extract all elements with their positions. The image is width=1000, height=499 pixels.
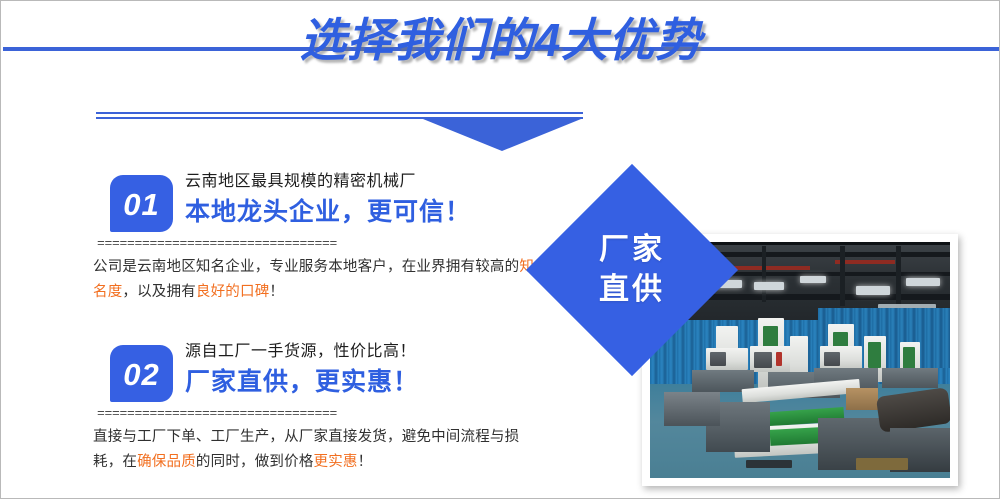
body-text-segment: 公司是云南地区知名企业，专业服务本地客户，在业界拥有较高的 [93, 259, 519, 275]
feature-body-01: 公司是云南地区知名企业，专业服务本地客户，在业界拥有较高的知名度，以及拥有良好的… [93, 255, 545, 305]
photo-skylight [906, 278, 940, 286]
photo-machine-panel [754, 352, 772, 368]
section-divider [96, 112, 583, 146]
diamond-line-1: 厂家 [599, 230, 665, 270]
feature-block-01: 01 云南地区最具规模的精密机械厂 本地龙头企业，更可信！ ==========… [93, 169, 553, 305]
photo-machine-panel [710, 352, 726, 366]
photo-machine-base [664, 392, 720, 426]
photo-machine-panel [903, 347, 915, 369]
page-title: 选择我们的4大优势 [1, 9, 1000, 71]
chevron-down-icon [423, 119, 581, 151]
highlighted-text: 确保品质 [137, 454, 196, 470]
diamond-line-2: 直供 [599, 270, 665, 310]
photo-column [896, 246, 901, 308]
feature-block-02: 02 源自工厂一手货源，性价比高！ 厂家直供，更实惠！ ============… [93, 339, 553, 475]
body-text-segment: ！ [269, 284, 284, 300]
feature-dashed-rule-02: ================================ [97, 407, 541, 421]
feature-header-02: 02 源自工厂一手货源，性价比高！ 厂家直供，更实惠！ [93, 339, 553, 405]
highlighted-text: 良好的口碑 [196, 284, 270, 300]
photo-skylight [800, 276, 826, 283]
photo-skylight [754, 282, 784, 290]
photo-machine-base [882, 368, 938, 388]
feature-header-01: 01 云南地区最具规模的精密机械厂 本地龙头企业，更可信！ [93, 169, 553, 235]
feature-body-02: 直接与工厂下单、工厂生产，从厂家直接发货，避免中间流程与损耗，在确保品质的同时，… [93, 425, 545, 475]
feature-subtitle-01: 云南地区最具规模的精密机械厂 [185, 169, 471, 193]
body-text-segment: ！ [358, 454, 373, 470]
photo-floor-object [856, 458, 908, 470]
body-text-segment: 的同时，做到价格 [196, 454, 314, 470]
feature-number-badge-02: 02 [110, 345, 173, 402]
photo-skylight [856, 286, 890, 295]
photo-column [762, 246, 766, 302]
feature-subtitle-02: 源自工厂一手货源，性价比高！ [185, 339, 419, 363]
divider-line-upper [96, 112, 583, 114]
promo-banner: 选择我们的4大优势 01 云南地区最具规模的精密机械厂 本地龙头企业，更可信！ … [0, 0, 1000, 499]
photo-wood-crate [846, 388, 878, 410]
feature-dashed-rule-01: ================================ [97, 237, 541, 251]
factory-direct-diamond-label: 厂家 直供 [557, 195, 707, 345]
photo-column [840, 246, 845, 306]
photo-machine-indicator [776, 352, 782, 366]
photo-machine-panel [824, 352, 840, 366]
photo-machine-panel [868, 342, 881, 368]
feature-heading-group-02: 源自工厂一手货源，性价比高！ 厂家直供，更实惠！ [185, 339, 419, 401]
feature-headline-02: 厂家直供，更实惠！ [185, 363, 419, 401]
feature-heading-group-01: 云南地区最具规模的精密机械厂 本地龙头企业，更可信！ [185, 169, 471, 231]
body-text-segment: ，以及拥有 [122, 284, 196, 300]
highlighted-text: 更实惠 [314, 454, 358, 470]
photo-cable [746, 460, 792, 468]
feature-number-badge-01: 01 [110, 175, 173, 232]
feature-headline-01: 本地龙头企业，更可信！ [185, 193, 471, 231]
